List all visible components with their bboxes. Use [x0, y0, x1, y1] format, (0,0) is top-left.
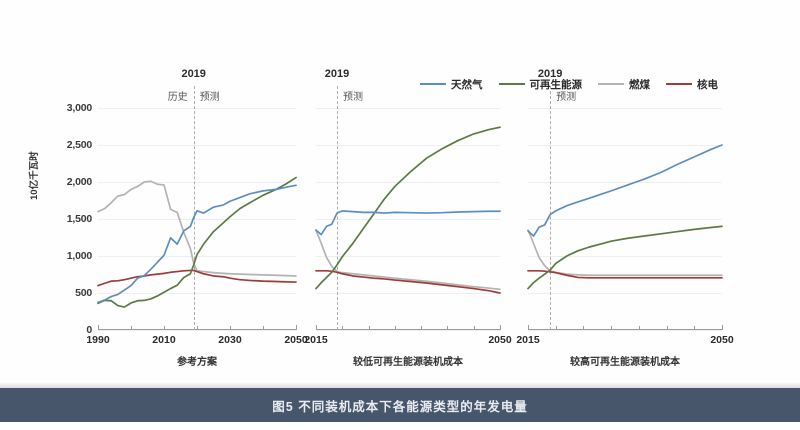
y-tick-label: 2,000 [67, 176, 92, 188]
legend-item-nuclear: 核电 [666, 77, 718, 92]
gridline [316, 330, 500, 331]
panel-higher-renewable-capacity-cost: 201520502019预测较高可再生能源装机成本 [512, 100, 722, 368]
y-tick-label: 1,000 [67, 250, 92, 262]
divider-year-label: 2019 [325, 68, 349, 80]
series-line-renewables [528, 226, 722, 288]
y-tick-label: 1,500 [67, 213, 92, 225]
series-line-coal [316, 230, 500, 289]
legend-label-nuclear: 核电 [697, 77, 718, 92]
chart-legend: 天然气可再生能源燃煤核电 [420, 76, 760, 92]
figure-caption-text: 图5 不同装机成本下各能源类型的年发电量 [272, 396, 527, 415]
x-tick-label: 1990 [86, 334, 109, 346]
forecast-label: 预测 [194, 88, 220, 103]
legend-item-coal: 燃煤 [598, 77, 650, 92]
panel-caption-lower-renewable-capacity-cost: 较低可再生能源装机成本 [316, 353, 500, 368]
history-label: 历史 [168, 88, 194, 103]
panel-caption-reference-case: 参考方案 [98, 353, 296, 368]
x-tick-label: 2010 [152, 334, 175, 346]
plot-area-reference-case: 05001,0001,5002,0002,5003,00019902010203… [98, 108, 296, 330]
x-tick-label: 2015 [516, 334, 539, 346]
series-line-gas [316, 211, 500, 235]
series-line-gas [528, 145, 722, 236]
chart-figure: 天然气可再生能源燃煤核电 10亿千瓦时 05001,0001,5002,0002… [0, 0, 800, 430]
legend-swatch-coal [598, 83, 624, 85]
forecast-label: 预测 [550, 88, 576, 103]
plot-box: 201520502019预测 [528, 108, 722, 330]
panel-reference-case: 05001,0001,5002,0002,5003,00019902010203… [46, 100, 296, 368]
chart-panels: 05001,0001,5002,0002,5003,00019902010203… [0, 100, 800, 368]
legend-item-gas: 天然气 [420, 77, 483, 92]
y-tick-label: 3,000 [67, 102, 92, 114]
divider-year-label: 2019 [181, 68, 205, 80]
series-layer [316, 108, 500, 330]
x-tick-label: 2050 [710, 334, 733, 346]
series-line-renewables [316, 127, 500, 288]
x-tick-label: 2030 [218, 334, 241, 346]
legend-swatch-nuclear [666, 83, 692, 85]
gridline [98, 330, 296, 331]
forecast-label: 预测 [337, 88, 363, 103]
x-tick-label: 2050 [488, 334, 511, 346]
legend-swatch-gas [420, 83, 446, 85]
series-layer [528, 108, 722, 330]
series-line-coal [528, 230, 722, 275]
y-tick-label: 500 [75, 287, 92, 299]
x-tick [722, 326, 723, 330]
series-line-nuclear [316, 271, 500, 293]
plot-box: 05001,0001,5002,0002,5003,00019902010203… [98, 108, 296, 330]
panel-lower-renewable-capacity-cost: 201520502019预测较低可再生能源装机成本 [300, 100, 500, 368]
divider-year-label: 2019 [538, 68, 562, 80]
plot-area-lower-renewable-capacity-cost: 201520502019预测 [316, 108, 500, 330]
y-tick-label: 2,500 [67, 139, 92, 151]
x-tick [500, 326, 501, 330]
x-tick [296, 326, 297, 330]
gridline [528, 330, 722, 331]
legend-swatch-renewables [499, 83, 525, 85]
series-line-gas [98, 185, 296, 302]
legend-label-coal: 燃煤 [629, 77, 650, 92]
figure-caption-bar: 图5 不同装机成本下各能源类型的年发电量 [0, 388, 800, 422]
plot-box: 201520502019预测 [316, 108, 500, 330]
series-line-nuclear [98, 270, 296, 285]
panel-caption-higher-renewable-capacity-cost: 较高可再生能源装机成本 [528, 353, 722, 368]
legend-label-gas: 天然气 [451, 77, 483, 92]
series-line-coal [98, 181, 296, 276]
plot-area-higher-renewable-capacity-cost: 201520502019预测 [528, 108, 722, 330]
x-tick-label: 2015 [304, 334, 327, 346]
series-layer [98, 108, 296, 330]
